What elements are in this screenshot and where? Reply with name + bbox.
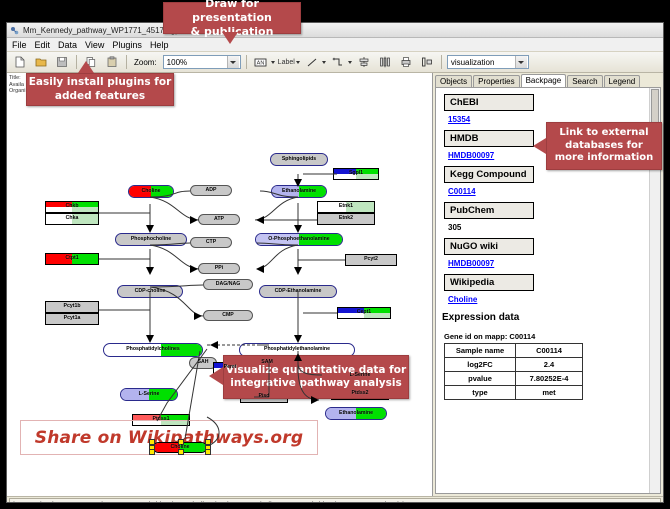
node-label: Etnk1 bbox=[339, 204, 353, 209]
menu-item-file[interactable]: File bbox=[12, 40, 27, 50]
node-label: Chka bbox=[66, 216, 79, 221]
cell-key: type bbox=[445, 386, 516, 400]
toolbar-separator-2 bbox=[126, 55, 127, 69]
cell-key: Sample name bbox=[445, 344, 516, 358]
gene-id-line: Gene id on mapp: C00114 bbox=[444, 332, 660, 341]
new-document-icon[interactable] bbox=[11, 53, 29, 71]
menu-item-view[interactable]: View bbox=[85, 40, 104, 50]
db-name-hmdb: HMDB bbox=[444, 130, 534, 147]
group-icon[interactable] bbox=[418, 53, 436, 71]
zoom-label: Zoom: bbox=[134, 58, 157, 67]
db-link-nugo[interactable]: HMDB00097 bbox=[448, 259, 660, 268]
node-choline-selected-wrap[interactable]: Choline bbox=[149, 439, 211, 455]
node-label: Choline bbox=[170, 445, 189, 450]
annotation-text: Link to externaldatabases formore inform… bbox=[555, 127, 654, 165]
toolbar: Zoom: 100% AN Label bbox=[7, 52, 663, 73]
open-folder-icon[interactable] bbox=[32, 53, 50, 71]
tab-search[interactable]: Search bbox=[567, 75, 602, 87]
menu-item-help[interactable]: Help bbox=[150, 40, 169, 50]
zoom-combo[interactable]: 100% bbox=[163, 55, 241, 69]
visualization-chevron-down-icon[interactable] bbox=[515, 56, 527, 68]
node-label: Chkb bbox=[66, 204, 79, 209]
cell-value: 7.80252E-4 bbox=[516, 372, 583, 386]
db-section-pubchem: PubChem 305 bbox=[444, 202, 660, 232]
distribute-icon[interactable] bbox=[376, 53, 394, 71]
node-label: Ethanolamine bbox=[339, 411, 373, 416]
node-label: CDP-Ethanolamine bbox=[275, 289, 322, 294]
node-label: Pisd bbox=[259, 394, 270, 399]
db-link-wikipedia[interactable]: Choline bbox=[448, 295, 660, 304]
node-label: Choline bbox=[141, 189, 160, 194]
expression-data-title: Expression data bbox=[442, 312, 660, 323]
annotation-draw-pointer bbox=[222, 32, 238, 44]
node-label: Pcyt1a bbox=[64, 316, 81, 321]
node-label: Pemt bbox=[224, 365, 237, 370]
menu-bar: File Edit Data View Plugins Help bbox=[7, 38, 663, 52]
table-row: log2FC 2.4 bbox=[445, 358, 583, 372]
svg-text:AN: AN bbox=[257, 60, 265, 66]
side-panel-tabs: Objects Properties Backpage Search Legen… bbox=[433, 73, 663, 87]
annotation-draw-callout: Draw for presentation& publication bbox=[163, 2, 301, 34]
tab-properties[interactable]: Properties bbox=[473, 75, 519, 87]
paste-clipboard-icon[interactable] bbox=[103, 53, 121, 71]
node-label: CMP bbox=[222, 313, 234, 318]
node-label: SAM bbox=[261, 360, 273, 365]
selection-handle-se[interactable] bbox=[205, 449, 211, 455]
cell-value: met bbox=[516, 386, 583, 400]
cell-key: pvalue bbox=[445, 372, 516, 386]
db-name-kegg: Kegg Compound bbox=[444, 166, 534, 183]
db-link-kegg[interactable]: C00114 bbox=[448, 187, 660, 196]
print-icon[interactable] bbox=[397, 53, 415, 71]
zoom-value: 100% bbox=[167, 58, 187, 67]
node-label: L-Serine bbox=[139, 392, 160, 397]
node-label: Etnk2 bbox=[339, 216, 353, 221]
node-label: PPi bbox=[215, 266, 223, 271]
node-label: SAH bbox=[198, 360, 209, 365]
status-bar: | Gene database: ...m_Derby_20120602.bri… bbox=[7, 496, 663, 503]
pathvisio-window: Mm_Kennedy_pathway_WP1771_45176.gpml Fil… bbox=[6, 22, 664, 503]
datanode-dropdown[interactable]: AN bbox=[252, 53, 275, 71]
cell-key: log2FC bbox=[445, 358, 516, 372]
db-name-wikipedia: Wikipedia bbox=[444, 274, 534, 291]
node-label: CDP-choline bbox=[135, 289, 166, 294]
db-name-nugo: NuGO wiki bbox=[444, 238, 534, 255]
node-label: ADP bbox=[206, 188, 217, 193]
menu-item-data[interactable]: Data bbox=[58, 40, 77, 50]
node-label: ATP bbox=[214, 217, 224, 222]
db-name-chebi: ChEBI bbox=[444, 94, 534, 111]
tab-legend[interactable]: Legend bbox=[604, 75, 641, 87]
label-dropdown-text: Label bbox=[278, 59, 295, 66]
line-dropdown[interactable] bbox=[303, 53, 326, 71]
node-label: Pcyt1b bbox=[63, 304, 80, 309]
node-label: Ethanolamine bbox=[282, 189, 316, 194]
tab-objects[interactable]: Objects bbox=[435, 75, 472, 87]
connector-dropdown[interactable] bbox=[329, 53, 352, 71]
toolbar-separator-3 bbox=[246, 55, 247, 69]
node-label: Pcyt2 bbox=[364, 257, 378, 262]
node-label: L-Serine bbox=[350, 373, 371, 378]
cell-value: 2.4 bbox=[516, 358, 583, 372]
cell-value: C00114 bbox=[516, 344, 583, 358]
align-icon[interactable] bbox=[355, 53, 373, 71]
pathway-canvas[interactable]: Title: Availa Organi bbox=[7, 73, 433, 496]
tab-backpage[interactable]: Backpage bbox=[521, 74, 567, 87]
expression-table: Sample name C00114 log2FC 2.4 pvalue 7.8… bbox=[444, 343, 583, 400]
menu-item-plugins[interactable]: Plugins bbox=[112, 40, 142, 50]
node-label: Sgpl1 bbox=[349, 171, 363, 176]
table-row: pvalue 7.80252E-4 bbox=[445, 372, 583, 386]
db-section-wikipedia: Wikipedia Choline bbox=[444, 274, 660, 304]
selection-handle-sw[interactable] bbox=[149, 449, 155, 455]
node-label: Cept1 bbox=[357, 310, 371, 315]
menu-item-edit[interactable]: Edit bbox=[35, 40, 51, 50]
table-row: Sample name C00114 bbox=[445, 344, 583, 358]
node-label: Sphingolipids bbox=[282, 157, 316, 162]
node-label: Phosphocholine bbox=[131, 237, 171, 242]
zoom-chevron-down-icon[interactable] bbox=[227, 56, 239, 68]
annotation-link-pointer bbox=[533, 138, 546, 154]
db-section-chebi: ChEBI 15354 bbox=[444, 94, 660, 124]
node-label: O-Phosphoethanolamine bbox=[268, 237, 329, 242]
node-label: Ptdss2 bbox=[351, 391, 368, 396]
visualization-combo[interactable]: visualization bbox=[447, 55, 529, 69]
title-bar: Mm_Kennedy_pathway_WP1771_45176.gpml bbox=[7, 23, 663, 38]
visualization-value: visualization bbox=[451, 58, 495, 67]
node-label: DAG/NAG bbox=[216, 282, 241, 287]
toolbar-separator-4 bbox=[441, 55, 442, 69]
label-dropdown[interactable]: Label bbox=[278, 59, 300, 66]
node-label: Ptdss1 bbox=[152, 417, 169, 422]
datanode-icon[interactable]: AN bbox=[252, 53, 270, 71]
app-icon bbox=[10, 26, 19, 35]
annotation-link-callout: Link to externaldatabases formore inform… bbox=[546, 122, 662, 170]
toolbar-separator-1 bbox=[76, 55, 77, 69]
db-section-kegg: Kegg Compound C00114 bbox=[444, 166, 660, 196]
save-disk-icon[interactable] bbox=[53, 53, 71, 71]
node-label: Phosphatidylethanolamine bbox=[264, 347, 330, 352]
annotation-plugins-pointer bbox=[78, 61, 94, 73]
db-name-pubchem: PubChem bbox=[444, 202, 534, 219]
node-label: CTP bbox=[206, 240, 216, 245]
node-label: Ctpt1 bbox=[65, 256, 78, 261]
node-label: Phosphatidylcholines bbox=[126, 347, 180, 352]
line-icon[interactable] bbox=[303, 53, 321, 71]
status-text: | Gene database: ...m_Derby_20120602.bri… bbox=[9, 498, 661, 504]
db-value-pubchem: 305 bbox=[448, 223, 660, 232]
db-section-nugo: NuGO wiki HMDB00097 bbox=[444, 238, 660, 268]
connector-icon[interactable] bbox=[329, 53, 347, 71]
table-row: type met bbox=[445, 386, 583, 400]
